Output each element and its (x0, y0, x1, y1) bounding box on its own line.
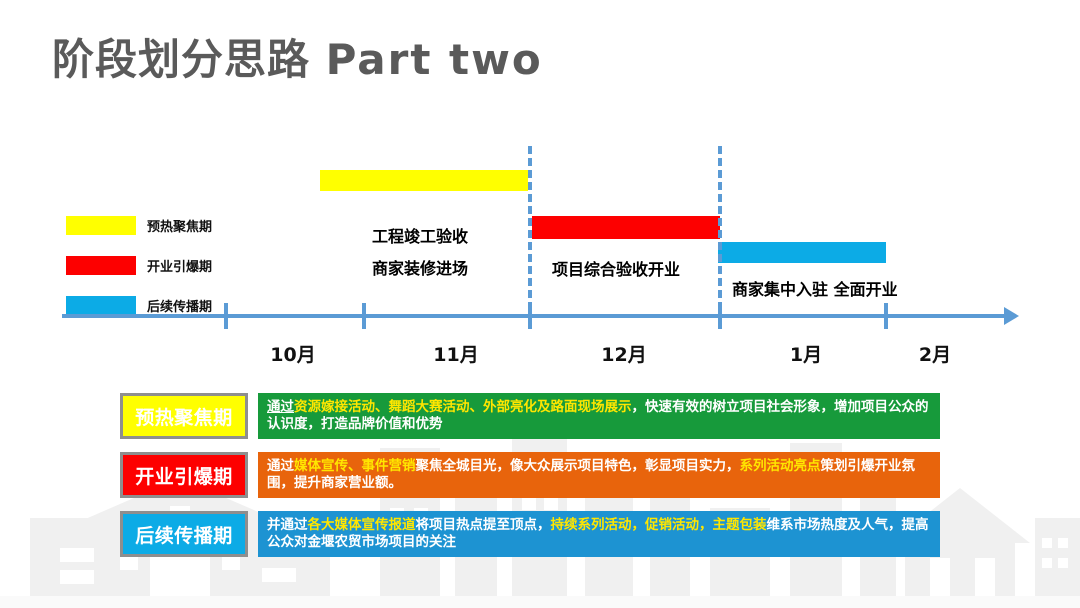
axis-label-oct: 10月 (270, 340, 315, 367)
legend-item-phase2: 开业引爆期 (66, 252, 212, 278)
axis-tick-3 (718, 303, 722, 329)
legend-label-phase1: 预热聚焦期 (147, 216, 212, 235)
slide-canvas: 阶段划分思路 Part two 预热聚焦期 开业引爆期 后续传播期 工程竣工验收… (0, 0, 1080, 608)
axis-tick-2 (528, 303, 532, 329)
axis-tick-1 (362, 303, 366, 329)
axis-tick-0 (224, 303, 228, 329)
gantt-bar-phase3 (718, 242, 886, 263)
legend-swatch-yellow (66, 216, 136, 235)
axis-tick-4 (884, 303, 888, 329)
milestone-divider-1 (528, 146, 532, 322)
phase-body-1-text: 通过资源嫁接活动、舞蹈大赛活动、外部亮化及路面现场展示，快速有效的树立项目社会形… (267, 399, 931, 433)
timeline-axis (62, 314, 1010, 318)
gantt-bar-phase2 (532, 216, 720, 239)
phase-body-2: 通过媒体宣传、事件营销聚焦全城目光，像大众展示项目特色，彰显项目实力，系列活动亮… (258, 452, 940, 498)
timeline-axis-arrow-icon (1004, 307, 1019, 325)
phase-panel-2: 开业引爆期 通过媒体宣传、事件营销聚焦全城目光，像大众展示项目特色，彰显项目实力… (120, 452, 940, 498)
legend-label-phase2: 开业引爆期 (147, 256, 212, 275)
phase-body-3-text: 并通过各大媒体宣传报道将项目热点提至顶点，持续系列活动，促销活动，主题包装维系市… (267, 517, 931, 551)
task-label-phase1-line1: 工程竣工验收 (372, 222, 468, 251)
phase-panel-1: 预热聚焦期 通过资源嫁接活动、舞蹈大赛活动、外部亮化及路面现场展示，快速有效的树… (120, 393, 940, 439)
task-label-phase1-line2: 商家装修进场 (372, 254, 468, 283)
legend-label-phase3: 后续传播期 (147, 296, 212, 315)
phase-badge-3: 后续传播期 (120, 511, 248, 557)
phase-badge-2: 开业引爆期 (120, 452, 248, 498)
page-title-en: Part two (326, 35, 543, 84)
axis-label-nov: 11月 (433, 340, 478, 367)
phase-body-2-text: 通过媒体宣传、事件营销聚焦全城目光，像大众展示项目特色，彰显项目实力，系列活动亮… (267, 458, 931, 492)
task-label-phase3: 商家集中入驻 全面开业 (732, 275, 898, 304)
axis-label-feb: 2月 (919, 340, 951, 367)
page-title: 阶段划分思路 Part two (52, 26, 543, 87)
milestone-divider-2 (718, 146, 722, 322)
page-title-cn: 阶段划分思路 (52, 35, 310, 84)
axis-label-jan: 1月 (790, 340, 822, 367)
legend-swatch-red (66, 256, 136, 275)
phase-badge-1: 预热聚焦期 (120, 393, 248, 439)
axis-label-dec: 12月 (601, 340, 646, 367)
phase-detail-panels: 预热聚焦期 通过资源嫁接活动、舞蹈大赛活动、外部亮化及路面现场展示，快速有效的树… (120, 393, 940, 570)
phase-body-3: 并通过各大媒体宣传报道将项目热点提至顶点，持续系列活动，促销活动，主题包装维系市… (258, 511, 940, 557)
legend-swatch-blue (66, 296, 136, 315)
legend-item-phase1: 预热聚焦期 (66, 212, 212, 238)
gantt-bar-phase1 (320, 170, 528, 191)
phase-panel-3: 后续传播期 并通过各大媒体宣传报道将项目热点提至顶点，持续系列活动，促销活动，主… (120, 511, 940, 557)
phase-body-1: 通过资源嫁接活动、舞蹈大赛活动、外部亮化及路面现场展示，快速有效的树立项目社会形… (258, 393, 940, 439)
task-label-phase2: 项目综合验收开业 (552, 255, 680, 284)
